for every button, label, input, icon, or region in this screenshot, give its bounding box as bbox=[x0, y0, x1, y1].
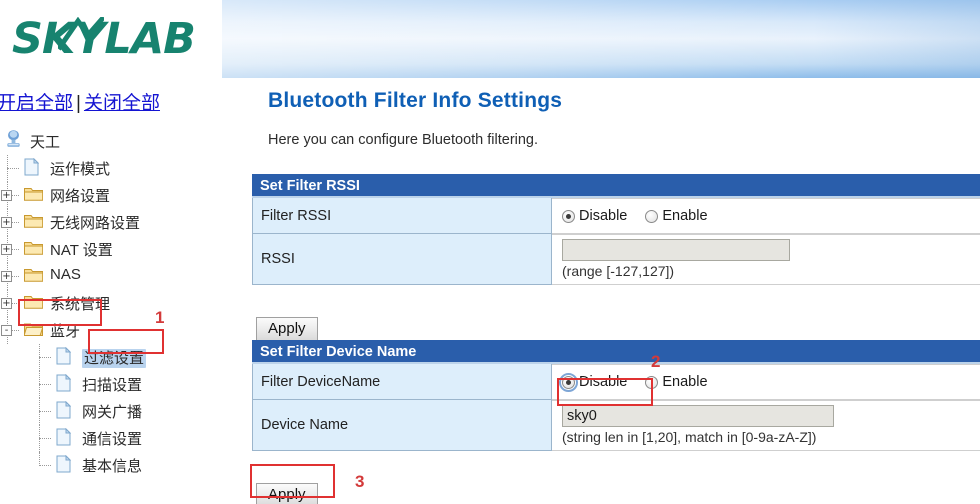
annotation-number-3: 3 bbox=[355, 472, 364, 492]
sidebar-item-label: 蓝牙 bbox=[50, 320, 80, 341]
sidebar-item-3[interactable]: +无线网路设置 bbox=[0, 209, 222, 236]
sidebar-item-1[interactable]: 运作模式 bbox=[0, 155, 222, 182]
tree-connector-horizontal bbox=[39, 411, 51, 412]
rssi-value-label: RSSI bbox=[252, 234, 552, 285]
tree-connector-vertical bbox=[39, 452, 40, 466]
sidebar-item-label: NAT 设置 bbox=[50, 239, 113, 260]
tree-items-container: 运作模式+网络设置+无线网路设置+NAT 设置+NAS+系统管理-蓝牙过滤设置扫… bbox=[0, 155, 222, 479]
site-banner: SKYLAB bbox=[0, 0, 980, 82]
tree-root-node[interactable]: 天工 bbox=[0, 128, 222, 155]
expand-icon[interactable]: + bbox=[1, 190, 12, 201]
logo-check-icon bbox=[58, 17, 104, 51]
radio-disable-icon[interactable] bbox=[562, 210, 575, 223]
expand-icon[interactable]: + bbox=[1, 217, 12, 228]
expand-all-link[interactable]: 开启全部 bbox=[0, 93, 73, 114]
tree-connector-horizontal bbox=[39, 438, 51, 439]
filter-devicename-radio-group: Disable Enable bbox=[552, 364, 980, 400]
table-row: Filter RSSI Disable Enable bbox=[252, 198, 980, 234]
folder-icon bbox=[24, 294, 43, 310]
banner-separator bbox=[222, 78, 980, 82]
expand-icon[interactable]: + bbox=[1, 298, 12, 309]
rssi-section-header: Set Filter RSSI bbox=[252, 174, 980, 198]
tree-root-label: 天工 bbox=[30, 131, 60, 152]
page-title: Bluetooth Filter Info Settings bbox=[268, 89, 562, 113]
filter-devicename-disable-label: Disable bbox=[579, 374, 627, 390]
sidebar-item-label-selected: 过滤设置 bbox=[82, 349, 146, 368]
filter-rssi-disable-label: Disable bbox=[579, 208, 627, 224]
filter-devicename-enable-label: Enable bbox=[662, 374, 707, 390]
tree-connector-horizontal bbox=[7, 168, 19, 169]
sidebar-item-9[interactable]: 扫描设置 bbox=[0, 371, 222, 398]
sidebar-item-label: 网络设置 bbox=[50, 185, 110, 206]
folder-icon bbox=[24, 213, 43, 229]
page-icon bbox=[56, 374, 71, 392]
tree-connector-horizontal bbox=[39, 357, 51, 358]
page-icon bbox=[24, 158, 39, 176]
folder-open-icon bbox=[24, 321, 43, 337]
folder-icon bbox=[24, 267, 43, 283]
apply-button-devicename[interactable]: Apply bbox=[256, 483, 318, 504]
tree-toggle-links: 开启全部|关闭全部 bbox=[0, 88, 160, 115]
expand-icon[interactable]: + bbox=[1, 244, 12, 255]
sidebar-item-label: 系统管理 bbox=[50, 293, 110, 314]
sidebar-item-12[interactable]: 基本信息 bbox=[0, 452, 222, 479]
filter-devicename-enable-option[interactable]: Enable bbox=[645, 374, 707, 390]
rssi-input[interactable] bbox=[562, 239, 790, 261]
sidebar-item-label: 运作模式 bbox=[50, 158, 110, 179]
table-row: RSSI (range [-127,127]) bbox=[252, 234, 980, 285]
filter-rssi-radio-group: Disable Enable bbox=[552, 198, 980, 234]
sidebar-item-2[interactable]: +网络设置 bbox=[0, 182, 222, 209]
collapse-icon[interactable]: - bbox=[1, 325, 12, 336]
page-icon bbox=[56, 401, 71, 419]
collapse-all-link[interactable]: 关闭全部 bbox=[84, 93, 160, 114]
table-row: Filter DeviceName Disable Enable bbox=[252, 364, 980, 400]
filter-devicename-disable-option[interactable]: Disable bbox=[562, 374, 627, 390]
page-icon bbox=[56, 428, 71, 446]
sidebar-item-4[interactable]: +NAT 设置 bbox=[0, 236, 222, 263]
page-icon bbox=[56, 455, 71, 473]
radio-disable-icon[interactable] bbox=[562, 376, 575, 389]
sidebar-item-11[interactable]: 通信设置 bbox=[0, 425, 222, 452]
expand-icon[interactable]: + bbox=[1, 271, 12, 282]
folder-icon bbox=[24, 240, 43, 256]
device-name-input[interactable] bbox=[562, 405, 834, 427]
device-name-hint: (string len in [1,20], match in [0-9a-zA… bbox=[562, 429, 980, 445]
sidebar-item-5[interactable]: +NAS bbox=[0, 263, 222, 290]
tree-connector-horizontal bbox=[39, 384, 51, 385]
devicename-value-cell: (string len in [1,20], match in [0-9a-zA… bbox=[552, 400, 980, 451]
sidebar-item-label: 过滤设置 bbox=[82, 347, 146, 368]
sidebar-item-label: 无线网路设置 bbox=[50, 212, 140, 233]
sidebar-item-6[interactable]: +系统管理 bbox=[0, 290, 222, 317]
annotation-number-1: 1 bbox=[155, 308, 164, 328]
set-filter-rssi-table: Set Filter RSSI Filter RSSI Disable Enab… bbox=[252, 174, 980, 285]
sidebar-item-label: 网关广播 bbox=[82, 401, 142, 422]
filter-rssi-enable-option[interactable]: Enable bbox=[645, 208, 707, 224]
links-separator: | bbox=[73, 93, 84, 114]
sidebar-item-label: NAS bbox=[50, 266, 81, 283]
filter-rssi-disable-option[interactable]: Disable bbox=[562, 208, 627, 224]
sidebar-item-label: 基本信息 bbox=[82, 455, 142, 476]
radio-enable-icon[interactable] bbox=[645, 376, 658, 389]
filter-rssi-enable-label: Enable bbox=[662, 208, 707, 224]
sidebar-item-label: 扫描设置 bbox=[82, 374, 142, 395]
page-icon bbox=[56, 347, 71, 365]
radio-enable-icon[interactable] bbox=[645, 210, 658, 223]
rssi-hint: (range [-127,127]) bbox=[562, 263, 980, 279]
folder-icon bbox=[24, 186, 43, 202]
tree-connector-horizontal bbox=[39, 465, 51, 466]
sidebar-item-10[interactable]: 网关广播 bbox=[0, 398, 222, 425]
set-filter-device-name-table: Set Filter Device Name Filter DeviceName… bbox=[252, 340, 980, 451]
sidebar-item-label: 通信设置 bbox=[82, 428, 142, 449]
sidebar-item-8[interactable]: 过滤设置 bbox=[0, 344, 222, 371]
sidebar-item-7[interactable]: -蓝牙 bbox=[0, 317, 222, 344]
filter-rssi-label: Filter RSSI bbox=[252, 198, 552, 234]
filter-devicename-label: Filter DeviceName bbox=[252, 364, 552, 400]
navigation-tree: 天工 运作模式+网络设置+无线网路设置+NAT 设置+NAS+系统管理-蓝牙过滤… bbox=[0, 128, 222, 479]
page-subtitle: Here you can configure Bluetooth filteri… bbox=[268, 132, 538, 148]
devname-section-header: Set Filter Device Name bbox=[252, 340, 980, 364]
apply-button-rssi[interactable]: Apply bbox=[256, 317, 318, 341]
devicename-value-label: Device Name bbox=[252, 400, 552, 451]
skylab-logo: SKYLAB bbox=[12, 14, 195, 64]
rssi-value-cell: (range [-127,127]) bbox=[552, 234, 980, 285]
computer-icon bbox=[4, 130, 23, 149]
annotation-number-2: 2 bbox=[651, 352, 660, 372]
banner-gradient bbox=[222, 0, 980, 78]
table-row: Device Name (string len in [1,20], match… bbox=[252, 400, 980, 451]
